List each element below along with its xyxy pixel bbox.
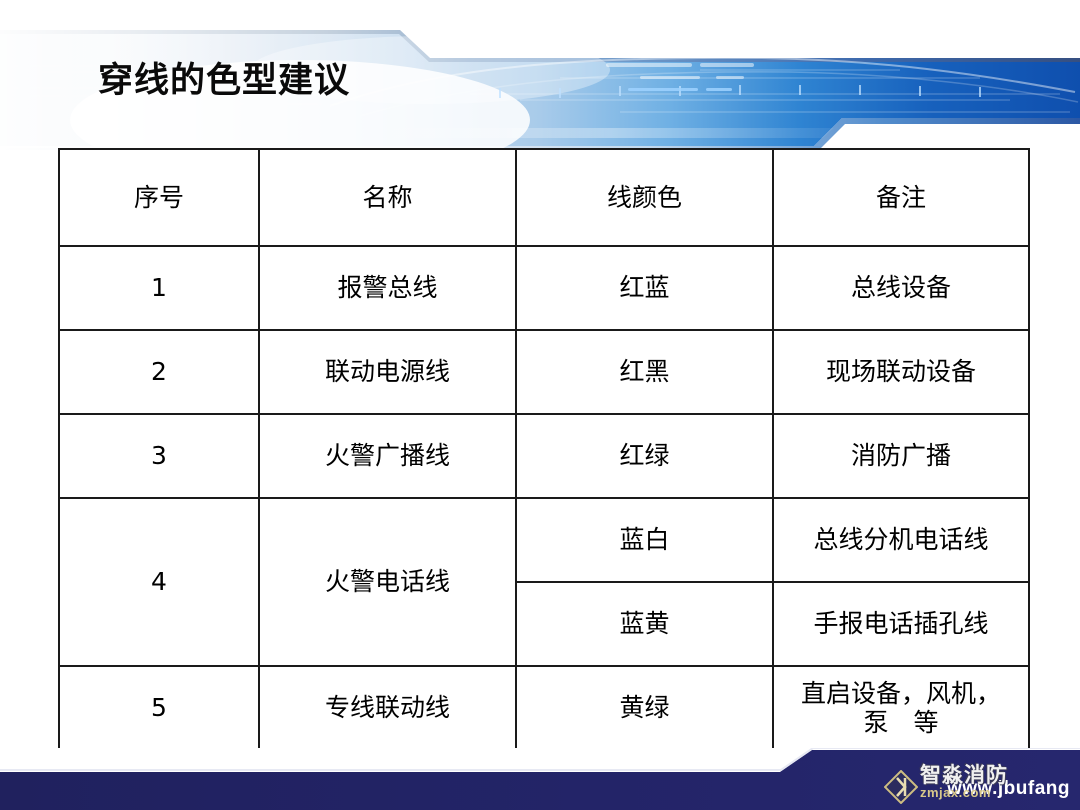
wire-color-table-container: 序号 名称 线颜色 备注 1 报警总线 红蓝 总线设备 2 联动电源线 红黑 <box>58 148 1028 751</box>
table-header: 序号 名称 线颜色 备注 <box>59 149 1029 246</box>
cell-index: 1 <box>59 246 259 330</box>
cell-name: 火警电话线 <box>259 498 516 666</box>
cell-remark: 消防广播 <box>773 414 1029 498</box>
cell-remark-line1: 直启设备，风机， <box>778 679 1024 709</box>
table-body: 1 报警总线 红蓝 总线设备 2 联动电源线 红黑 现场联动设备 3 火警广播线… <box>59 246 1029 750</box>
cell-wirecolor: 红黑 <box>516 330 773 414</box>
cell-wirecolor: 蓝黄 <box>516 582 773 666</box>
cell-remark-line2: 泵 等 <box>778 708 1024 738</box>
table-header-row: 序号 名称 线颜色 备注 <box>59 149 1029 246</box>
cell-name: 联动电源线 <box>259 330 516 414</box>
header-banner: 穿线的色型建议 <box>0 0 1080 150</box>
cell-remark: 手报电话插孔线 <box>773 582 1029 666</box>
table-row: 2 联动电源线 红黑 现场联动设备 <box>59 330 1029 414</box>
cell-wirecolor: 红蓝 <box>516 246 773 330</box>
footer-bar: www.jbufang <box>0 748 1080 810</box>
cell-wirecolor: 红绿 <box>516 414 773 498</box>
footer-bar-graphic <box>0 748 1080 810</box>
cell-index: 2 <box>59 330 259 414</box>
cell-remark: 总线设备 <box>773 246 1029 330</box>
table-row: 4 火警电话线 蓝白 总线分机电话线 <box>59 498 1029 582</box>
cell-remark: 现场联动设备 <box>773 330 1029 414</box>
cell-name: 专线联动线 <box>259 666 516 750</box>
cell-remark: 直启设备，风机， 泵 等 <box>773 666 1029 750</box>
cell-wirecolor: 蓝白 <box>516 498 773 582</box>
cell-index: 5 <box>59 666 259 750</box>
table-row: 3 火警广播线 红绿 消防广播 <box>59 414 1029 498</box>
footer-website-url: www.jbufang <box>947 778 1070 800</box>
cell-name: 火警广播线 <box>259 414 516 498</box>
column-header-index: 序号 <box>59 149 259 246</box>
table-row: 1 报警总线 红蓝 总线设备 <box>59 246 1029 330</box>
cell-remark: 总线分机电话线 <box>773 498 1029 582</box>
page-title: 穿线的色型建议 <box>98 62 350 101</box>
cell-name: 报警总线 <box>259 246 516 330</box>
cell-wirecolor: 黄绿 <box>516 666 773 750</box>
slide-root: 穿线的色型建议 序号 名称 线颜色 备注 1 报警总线 红蓝 总线 <box>0 0 1080 810</box>
column-header-remark: 备注 <box>773 149 1029 246</box>
column-header-name: 名称 <box>259 149 516 246</box>
column-header-wirecolor: 线颜色 <box>516 149 773 246</box>
table-row: 5 专线联动线 黄绿 直启设备，风机， 泵 等 <box>59 666 1029 750</box>
cell-index: 3 <box>59 414 259 498</box>
cell-index: 4 <box>59 498 259 666</box>
wire-color-table: 序号 名称 线颜色 备注 1 报警总线 红蓝 总线设备 2 联动电源线 红黑 <box>58 148 1030 751</box>
